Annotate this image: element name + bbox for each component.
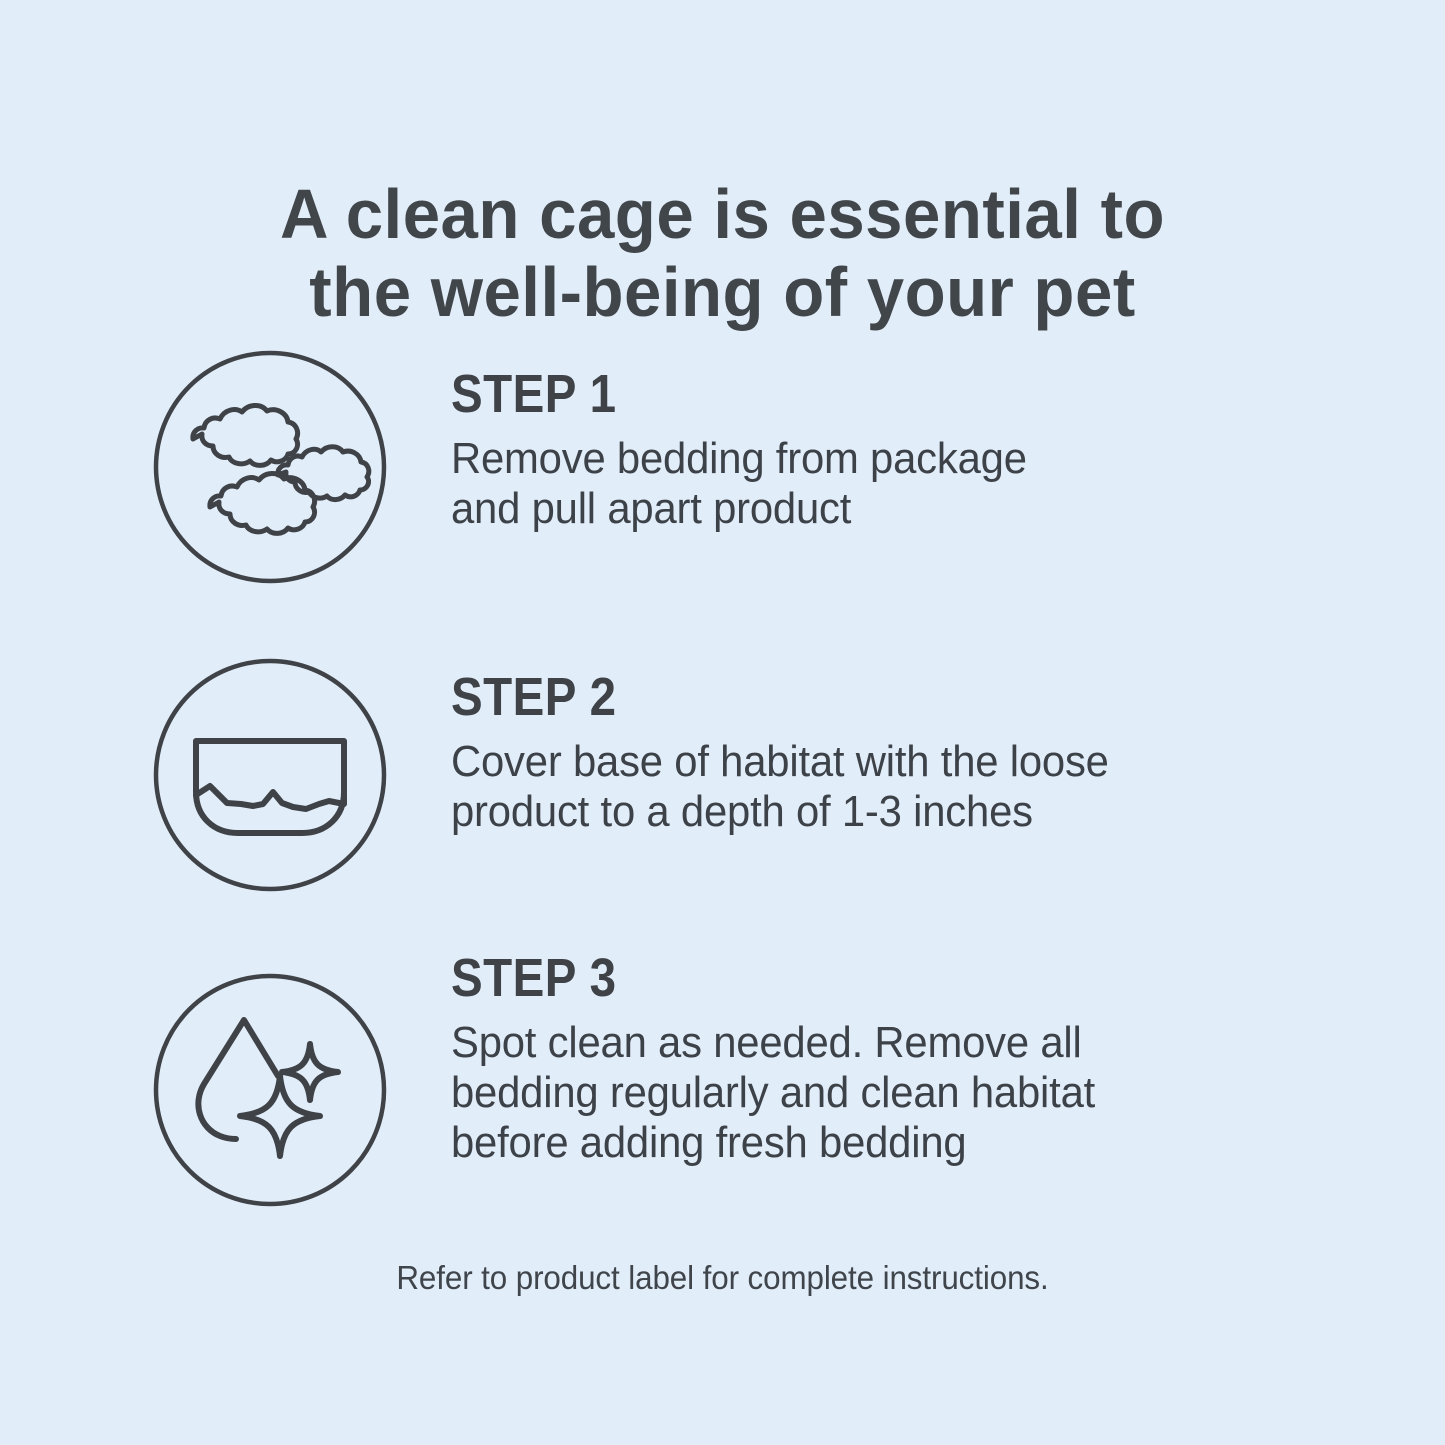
step-heading: STEP 3 <box>451 950 1243 1006</box>
list-item: STEP 2 Cover base of habitat with the lo… <box>0 645 1445 950</box>
list-item: STEP 3 Spot clean as needed. Remove all … <box>0 950 1445 1255</box>
droplet-sparkle-icon <box>152 972 388 1208</box>
step-description: Spot clean as needed. Remove all bedding… <box>451 1018 1306 1168</box>
bedding-clouds-icon <box>152 349 388 585</box>
list-item: STEP 1 Remove bedding from package and p… <box>0 340 1445 645</box>
step-text-block: STEP 2 Cover base of habitat with the lo… <box>451 669 1351 837</box>
step-description: Cover base of habitat with the loose pro… <box>451 737 1306 837</box>
step-heading: STEP 2 <box>451 669 1243 725</box>
footer-note: Refer to product label for complete inst… <box>36 1258 1409 1298</box>
steps-list: STEP 1 Remove bedding from package and p… <box>0 340 1445 1255</box>
habitat-tank-icon <box>152 657 388 893</box>
step-text-block: STEP 1 Remove bedding from package and p… <box>451 366 1351 534</box>
page-title: A clean cage is essential to the well-be… <box>29 175 1416 331</box>
step-heading: STEP 1 <box>451 366 1243 422</box>
step-text-block: STEP 3 Spot clean as needed. Remove all … <box>451 950 1351 1168</box>
step-description: Remove bedding from package and pull apa… <box>451 434 1306 534</box>
infographic-page: A clean cage is essential to the well-be… <box>0 0 1445 1445</box>
